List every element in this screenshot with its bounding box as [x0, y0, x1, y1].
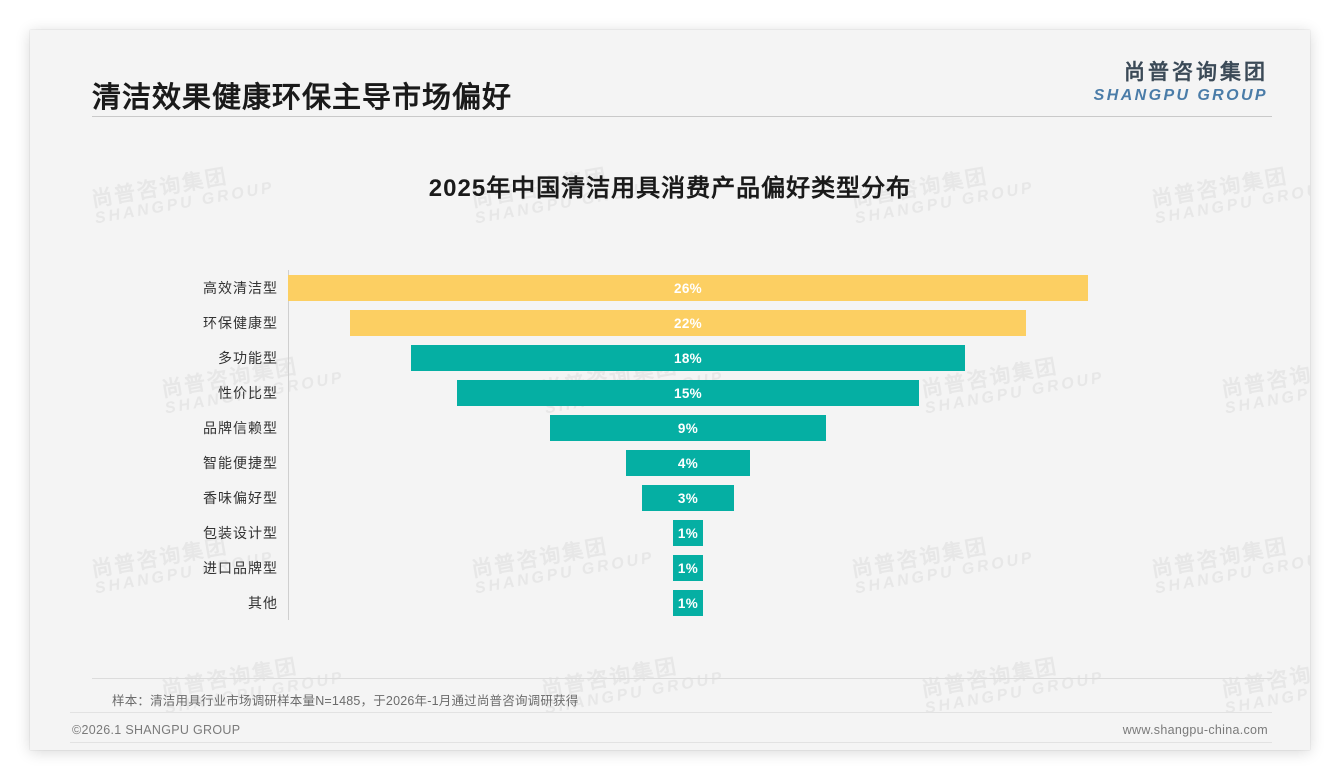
bar-value-label: 26%: [674, 281, 702, 296]
chart-title: 2025年中国清洁用具消费产品偏好类型分布: [30, 168, 1310, 203]
bar-value-label: 9%: [678, 421, 698, 436]
bar-10[interactable]: 1%: [673, 590, 704, 616]
bar-value-label: 4%: [678, 456, 698, 471]
header-divider: [92, 116, 1272, 117]
page-title: 清洁效果健康环保主导市场偏好: [92, 74, 512, 116]
chart-row: 性价比型15%: [30, 380, 1310, 406]
brand-name-en: SHANGPU GROUP: [1094, 87, 1268, 105]
bar-value-label: 3%: [678, 491, 698, 506]
chart-footnote: 样本：清洁用具行业市场调研样本量N=1485，于2026年-1月通过尚普咨询调研…: [112, 690, 578, 709]
bar-value-label: 1%: [678, 526, 698, 541]
category-label: 进口品牌型: [120, 555, 278, 581]
category-label: 其他: [120, 590, 278, 616]
category-label: 智能便捷型: [120, 450, 278, 476]
chart-row: 智能便捷型4%: [30, 450, 1310, 476]
chart-row: 包装设计型1%: [30, 520, 1310, 546]
bar-1[interactable]: 26%: [288, 275, 1088, 301]
footer-copyright: ©2026.1 SHANGPU GROUP: [72, 723, 240, 737]
footer-top-divider: [70, 712, 1272, 713]
bar-7[interactable]: 3%: [642, 485, 734, 511]
category-label: 环保健康型: [120, 310, 278, 336]
brand-name-cn: 尚普咨询集团: [1094, 56, 1268, 86]
category-label: 多功能型: [120, 345, 278, 371]
bar-value-label: 1%: [678, 561, 698, 576]
chart-row: 品牌信赖型9%: [30, 415, 1310, 441]
slide-canvas: 尚普咨询集团SHANGPU GROUP尚普咨询集团SHANGPU GROUP尚普…: [30, 30, 1310, 750]
bar-3[interactable]: 18%: [411, 345, 965, 371]
chart-row: 香味偏好型3%: [30, 485, 1310, 511]
category-label: 包装设计型: [120, 520, 278, 546]
category-label: 性价比型: [120, 380, 278, 406]
slide-footer: ©2026.1 SHANGPU GROUP www.shangpu-china.…: [30, 714, 1310, 750]
category-label: 品牌信赖型: [120, 415, 278, 441]
bar-5[interactable]: 9%: [550, 415, 827, 441]
bar-6[interactable]: 4%: [626, 450, 749, 476]
bar-value-label: 1%: [678, 596, 698, 611]
bar-value-label: 18%: [674, 351, 702, 366]
category-label: 高效清洁型: [120, 275, 278, 301]
chart-row: 高效清洁型26%: [30, 275, 1310, 301]
chart-row: 进口品牌型1%: [30, 555, 1310, 581]
footer-website[interactable]: www.shangpu-china.com: [1123, 723, 1268, 737]
category-label: 香味偏好型: [120, 485, 278, 511]
bar-4[interactable]: 15%: [457, 380, 919, 406]
bar-8[interactable]: 1%: [673, 520, 704, 546]
bar-2[interactable]: 22%: [350, 310, 1027, 336]
funnel-bar-chart: 高效清洁型26%环保健康型22%多功能型18%性价比型15%品牌信赖型9%智能便…: [30, 30, 1310, 750]
bar-value-label: 15%: [674, 386, 702, 401]
chart-row: 其他1%: [30, 590, 1310, 616]
slide-header: 清洁效果健康环保主导市场偏好 尚普咨询集团 SHANGPU GROUP: [30, 30, 1310, 126]
footnote-divider: [92, 678, 1272, 679]
bar-value-label: 22%: [674, 316, 702, 331]
brand-logo: 尚普咨询集团 SHANGPU GROUP: [1094, 56, 1268, 105]
chart-row: 环保健康型22%: [30, 310, 1310, 336]
bar-9[interactable]: 1%: [673, 555, 704, 581]
footer-bottom-divider: [70, 742, 1272, 743]
chart-row: 多功能型18%: [30, 345, 1310, 371]
